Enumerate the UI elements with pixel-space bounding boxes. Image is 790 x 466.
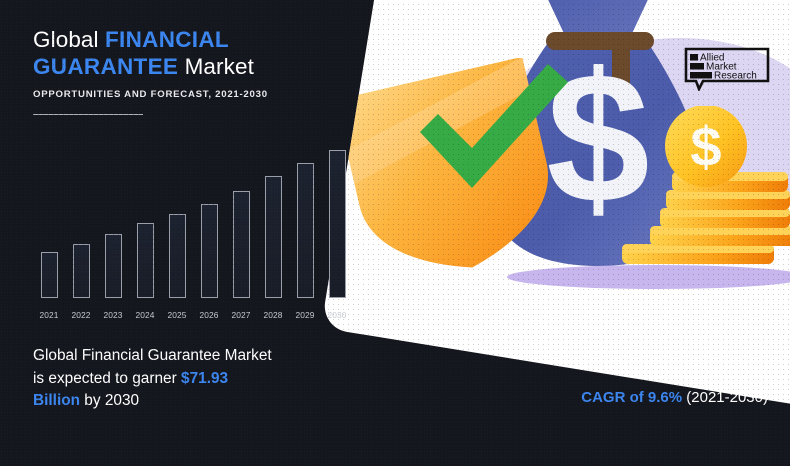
chart-x-label: 2025 <box>161 310 193 320</box>
page-title-line-1: Global FINANCIAL <box>33 26 363 53</box>
cagr-line-1: Growing at a <box>581 366 768 386</box>
chart-bar-slot <box>289 150 321 298</box>
chart-x-label: 2022 <box>65 310 97 320</box>
checkmark-icon <box>402 34 582 214</box>
logo-block-2 <box>690 63 704 70</box>
title-word-financial: FINANCIAL <box>105 27 229 52</box>
chart-x-label: 2028 <box>257 310 289 320</box>
chart-bar-slot <box>129 150 161 298</box>
chart-x-label: 2026 <box>193 310 225 320</box>
allied-market-research-logo: Allied Market Research <box>684 47 770 91</box>
logo-block-1 <box>690 54 698 61</box>
chart-bar <box>201 204 218 298</box>
chart-x-label: 2030 <box>321 310 353 320</box>
cagr-line-2: CAGR of 9.6% (2021-2030) <box>581 387 768 408</box>
chart-bars <box>33 150 353 298</box>
title-word-guarantee: GUARANTEE <box>33 54 178 79</box>
market-value-statement: Global Financial Guarantee Market is exp… <box>33 345 363 413</box>
coin-stack-icon: $ <box>620 106 790 276</box>
chart-bar <box>297 163 314 298</box>
chart-bar-slot <box>225 150 257 298</box>
value-year: by 2030 <box>80 392 139 409</box>
chart-bar-slot <box>193 150 225 298</box>
value-line-1: Global Financial Guarantee Market <box>33 347 272 364</box>
cagr-years: (2021-2030) <box>682 389 768 406</box>
title-word-global: Global <box>33 27 105 52</box>
chart-bar <box>265 176 282 298</box>
chart-x-label: 2029 <box>289 310 321 320</box>
chart-x-label: 2023 <box>97 310 129 320</box>
chart-bar <box>137 223 154 298</box>
chart-bar <box>41 252 58 298</box>
chart-bar <box>73 244 90 298</box>
coin-dollar-symbol: $ <box>690 115 721 178</box>
cagr-statement: Growing at a CAGR of 9.6% (2021-2030) <box>581 366 768 408</box>
cagr-value: CAGR of 9.6% <box>581 389 682 406</box>
title-word-market: Market <box>178 54 254 79</box>
chart-bar-slot <box>33 150 65 298</box>
chart-x-label: 2027 <box>225 310 257 320</box>
chart-bar <box>329 150 346 298</box>
bar-chart: 2021202220232024202520262027202820292030 <box>33 150 353 320</box>
logo-text-research: Research <box>714 71 757 82</box>
chart-bar <box>169 214 186 298</box>
page-title-line-2: GUARANTEE Market <box>33 53 363 80</box>
chart-bar <box>233 191 250 298</box>
chart-bar-slot <box>97 150 129 298</box>
logo-block-3 <box>690 72 712 79</box>
chart-x-label: 2024 <box>129 310 161 320</box>
title-divider <box>33 114 143 115</box>
value-unit: Billion <box>33 392 80 409</box>
chart-x-label: 2021 <box>33 310 65 320</box>
chart-bar-slot <box>161 150 193 298</box>
chart-x-axis: 2021202220232024202520262027202820292030 <box>33 310 353 320</box>
subtitle: OPPORTUNITIES AND FORECAST, 2021-2030 <box>33 89 363 100</box>
chart-bar-slot <box>65 150 97 298</box>
infographic-canvas: $ <box>0 0 790 466</box>
headline-block: Global FINANCIAL GUARANTEE Market OPPORT… <box>33 26 363 115</box>
chart-bar <box>105 234 122 298</box>
chart-bar-slot <box>257 150 289 298</box>
value-amount: $71.93 <box>181 370 228 387</box>
chart-bar-slot <box>321 150 353 298</box>
value-line-2-prefix: is expected to garner <box>33 370 181 387</box>
